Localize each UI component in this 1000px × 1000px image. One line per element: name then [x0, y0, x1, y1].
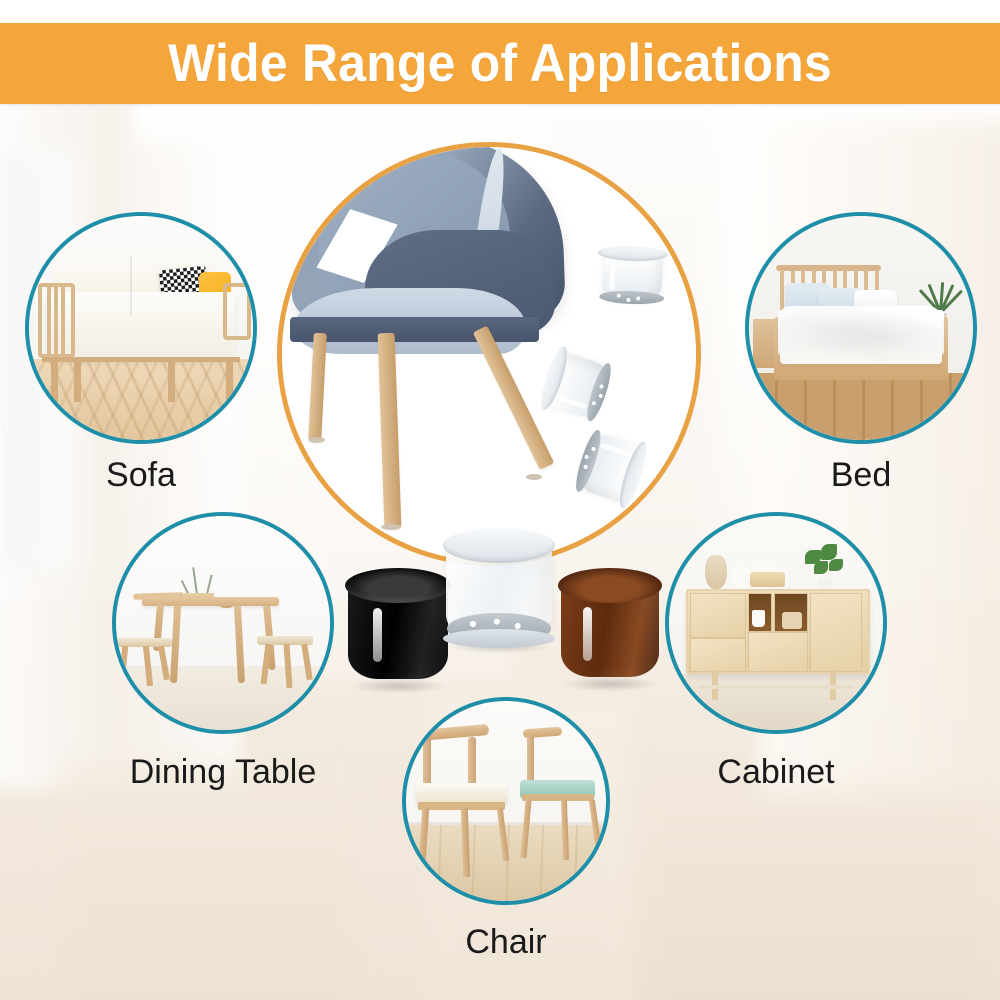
- chair-photo: [406, 701, 606, 901]
- application-label-bed: Bed: [755, 458, 967, 492]
- application-circle-bed: [745, 212, 977, 444]
- application-label-sofa: Sofa: [35, 458, 247, 492]
- hero-cap-upright: [596, 245, 668, 305]
- application-circle-sofa: [25, 212, 257, 444]
- sofa-photo: [29, 216, 253, 440]
- application-label-cabinet: Cabinet: [665, 755, 887, 789]
- application-label-chair: Chair: [402, 925, 610, 959]
- application-circle-chair: [402, 697, 610, 905]
- product-clear-cap: [443, 528, 555, 646]
- page-title: Wide Range of Applications: [168, 37, 832, 90]
- product-black-cap: [345, 568, 451, 686]
- bed-photo: [749, 216, 973, 440]
- product-brown-cap: [558, 568, 662, 684]
- cabinet-photo: [669, 516, 883, 730]
- hero-circle-product-demo: [277, 142, 701, 566]
- application-label-dining-table: Dining Table: [112, 755, 334, 789]
- application-circle-cabinet: [665, 512, 887, 734]
- header-banner: Wide Range of Applications: [0, 23, 1000, 104]
- hero-photo: [282, 147, 696, 561]
- infographic-root: Wide Range of Applications Sofa: [0, 0, 1000, 1000]
